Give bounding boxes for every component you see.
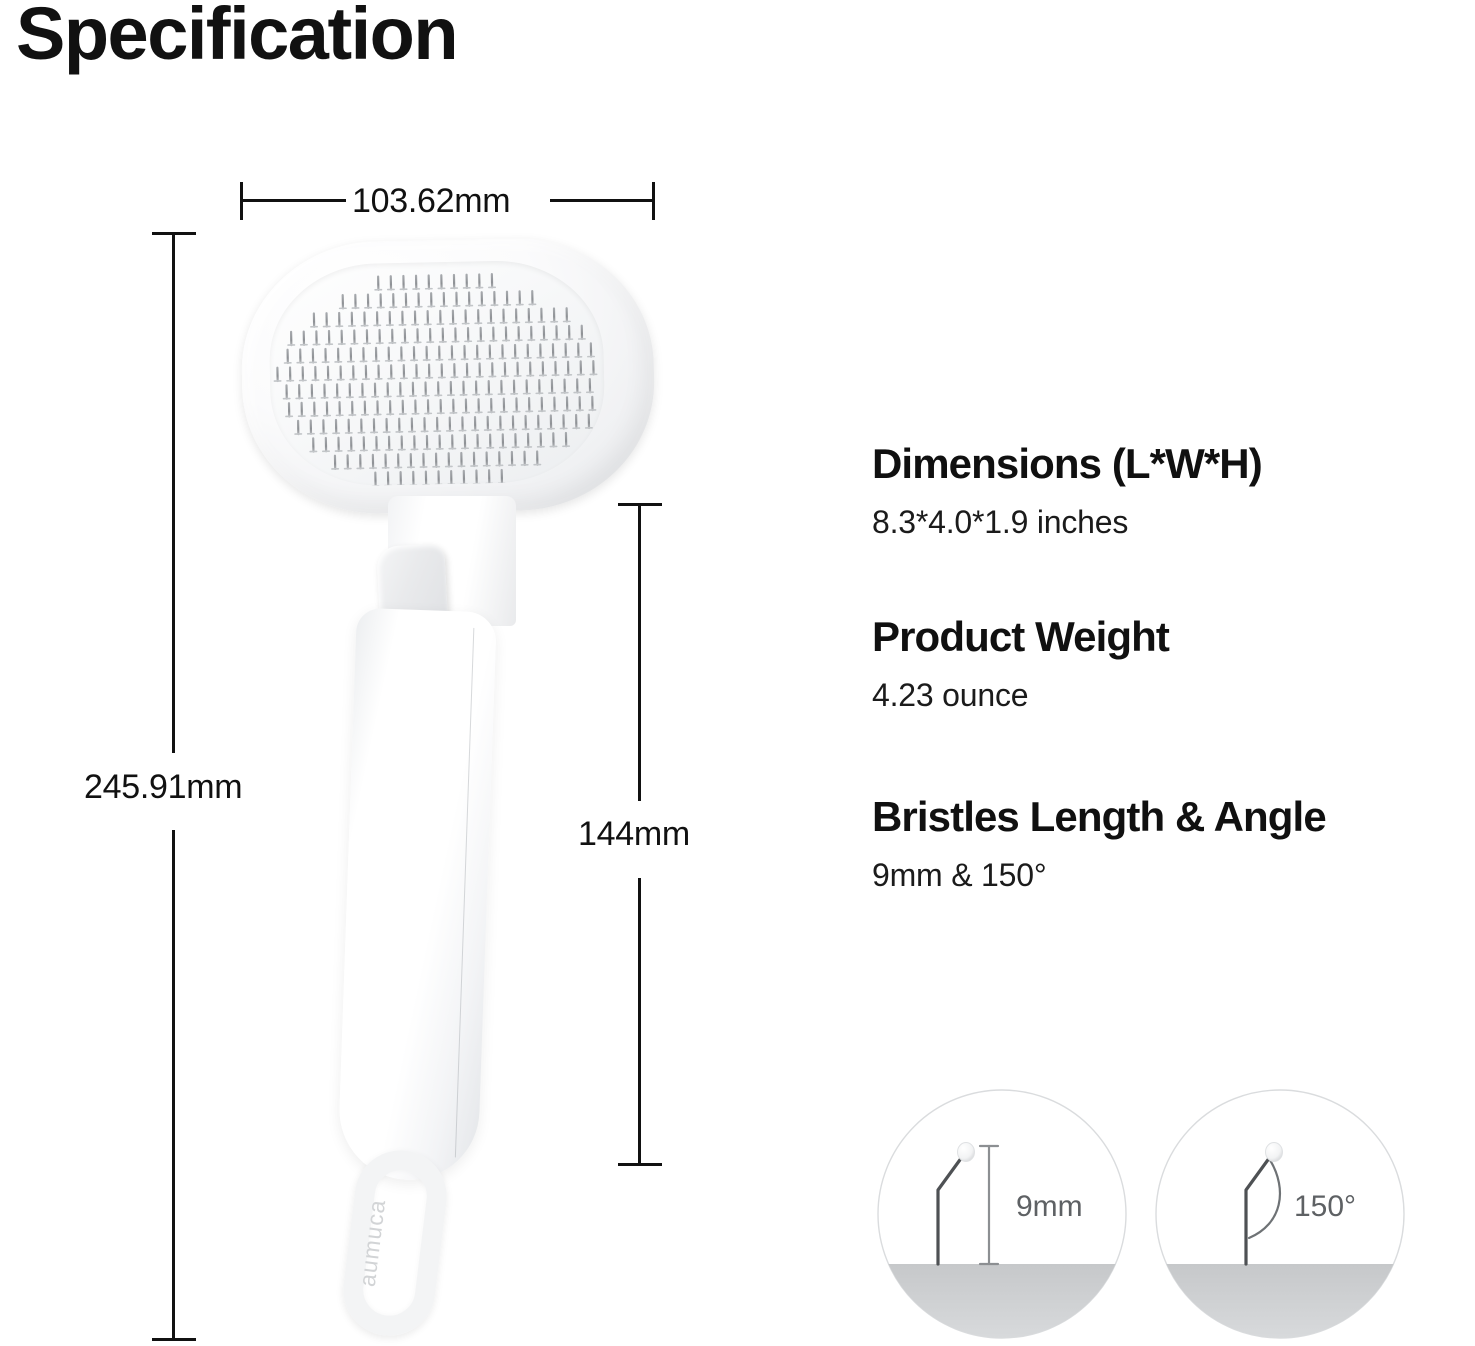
width-line-left [241,199,346,202]
bristle-angle-icon: 150° [1154,1086,1406,1342]
specification-page: Specification [0,0,1475,1346]
bristle-length-icon: 9mm [876,1086,1128,1342]
bristle-length-figure: 9mm [876,1086,1128,1342]
height-line-top [172,233,175,753]
spec-item-dimensions: Dimensions (L*W*H) 8.3*4.0*1.9 inches [872,440,1472,541]
spec-title-dimensions: Dimensions (L*W*H) [872,440,1472,487]
spec-title-weight: Product Weight [872,613,1472,660]
handle-seam [455,628,474,1158]
bristle-angle-figure: 150° [1154,1086,1406,1342]
bristle-length-value: 9mm [1016,1190,1083,1223]
spec-title-bristles: Bristles Length & Angle [872,793,1472,840]
handle-line-top [638,504,641,801]
brush-bristle-pad [268,259,607,488]
height-label: 245.91mm [84,768,242,807]
bristle-grid-icon [268,259,607,488]
height-line-bottom [172,830,175,1339]
spec-value-weight: 4.23 ounce [872,676,1472,714]
spec-item-bristles: Bristles Length & Angle 9mm & 150° [872,793,1472,894]
bristle-diagrams: 9mm [876,1086,1406,1342]
handle-body [337,608,497,1183]
width-label: 103.62mm [352,182,510,221]
spec-value-dimensions: 8.3*4.0*1.9 inches [872,503,1472,541]
spec-list: Dimensions (L*W*H) 8.3*4.0*1.9 inches Pr… [872,440,1472,954]
handle-line-bottom [638,878,641,1164]
bristle-angle-value: 150° [1294,1190,1356,1223]
spec-item-weight: Product Weight 4.23 ounce [872,613,1472,714]
handle-label: 144mm [578,815,690,854]
spec-value-bristles: 9mm & 150° [872,856,1472,894]
brush-head-shell [239,236,657,517]
width-line-right [550,199,653,202]
brand-logo-text: aumuca [353,1198,391,1288]
